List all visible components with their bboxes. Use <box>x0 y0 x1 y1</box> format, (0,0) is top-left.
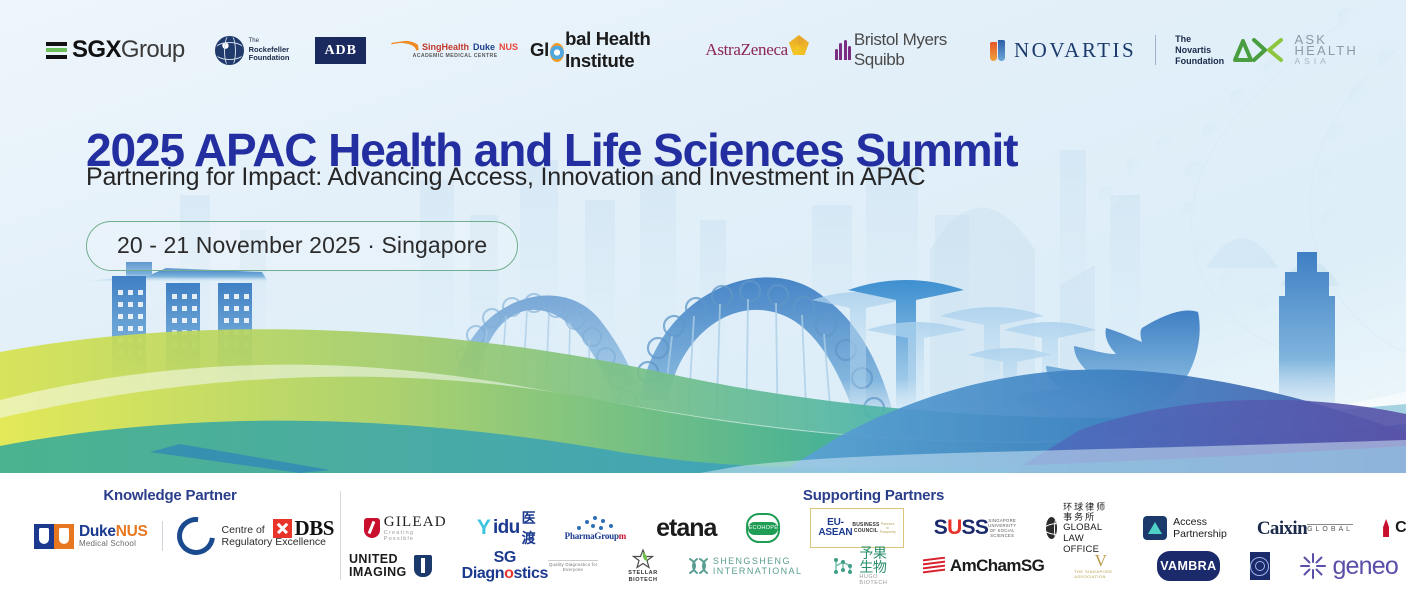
globe-o-icon <box>550 43 564 62</box>
supporting-partners-heading: Supporting Partners <box>341 487 1406 504</box>
geneo-label: geneo <box>1332 552 1398 581</box>
v-crest-sub: THE SINGAPORE ASSOCIATION <box>1074 569 1127 579</box>
supporting-partners-section: Supporting Partners DBS GILEAD Creating … <box>341 473 1406 594</box>
united-line2: IMAGING <box>349 566 407 579</box>
logo-united-imaging: UNITED IMAGING <box>349 550 432 582</box>
sgx-bars-icon <box>46 42 67 59</box>
yidu-y-icon: Y <box>477 518 491 538</box>
duke-label: Duke <box>473 42 495 52</box>
logo-singhealth-dukenus: SingHealth Duke NUS ACADEMIC MEDICAL CEN… <box>392 41 518 59</box>
singhealth-label: SingHealth <box>422 42 469 52</box>
core-arc-icon <box>169 509 222 562</box>
euasean-line2: BUSINESS COUNCIL <box>852 522 879 534</box>
logo-v-crest: V THE SINGAPORE ASSOCIATION <box>1074 550 1127 582</box>
logo-astrazeneca: AstraZeneca <box>705 40 809 60</box>
access-mark-icon <box>1143 516 1167 540</box>
sgd-dot-icon: o <box>504 565 513 582</box>
pharmagroup-dots-icon <box>573 516 617 531</box>
hugo-cn-label: 予果生物 <box>859 546 893 574</box>
logo-geneo: geneo <box>1300 550 1398 582</box>
date-location-badge: 20 - 21 November 2025 · Singapore <box>86 221 518 271</box>
logo-sgx-group: SGXGroup <box>46 36 185 64</box>
shsh-line2: INTERNATIONAL <box>713 566 803 577</box>
logo-caixin-global: Caixin GLOBAL <box>1257 512 1353 544</box>
suss-ss: SS <box>962 516 989 539</box>
logo-gilead: GILEAD Creating Possible <box>364 512 447 544</box>
pharmagroup-mark: m <box>619 531 626 541</box>
logo-hugo-biotech: 予果生物 HUGO BIOTECH <box>832 550 893 582</box>
amcham-label: AmChamSG <box>950 556 1044 576</box>
shsh-line1: SHENGSHENG <box>713 556 803 567</box>
dbs-mark-icon <box>273 519 292 538</box>
logo-shengsheng-international: SHENGSHENG INTERNATIONAL <box>688 550 803 582</box>
sgd-tagline: Quality Diagnostics for Everyone <box>548 560 598 572</box>
event-banner: SGXGroup The Rockefeller Foundation ADB … <box>0 0 1406 594</box>
molecule-icon <box>832 556 854 576</box>
divider <box>1155 35 1156 65</box>
novartis-label: NOVARTIS <box>1014 38 1136 63</box>
gilead-tagline: Creating Possible <box>384 530 447 542</box>
logo-ask-health-asia: ASK HEALTH ASIA <box>1225 34 1358 67</box>
swoosh-icon <box>391 39 418 54</box>
ecohope-label: ECOHOPE <box>748 522 778 535</box>
bms-bars-icon <box>835 40 848 60</box>
gilead-label: GILEAD <box>384 515 447 530</box>
ghi-pre: Gl <box>530 39 549 61</box>
stellar-line1: STELLAR <box>628 570 658 577</box>
logo-stellar-biotech: STELLAR BIOTECH <box>628 550 658 582</box>
star-leaf-icon <box>632 549 654 570</box>
hero-section: SGXGroup The Rockefeller Foundation ADB … <box>0 0 1406 473</box>
access-line2: Partnership <box>1173 528 1227 540</box>
sgd-label2: stics <box>514 565 548 582</box>
pharmagroup-label: PharmaGroup <box>565 531 619 541</box>
shengsheng-mark-icon <box>688 556 708 576</box>
astrazeneca-mark-icon <box>789 35 809 55</box>
amc-label: ACADEMIC MEDICAL CENTRE <box>413 53 498 59</box>
divider <box>162 521 163 551</box>
logo-yidu: Y idu 医渡 <box>477 512 535 544</box>
suss-s1: S <box>934 516 947 539</box>
rockefeller-line3: Foundation <box>249 53 290 62</box>
logo-ceibs: CEIBS 中欧校友 医疗健康产业协会 <box>1383 512 1406 544</box>
logo-amchamsg: AmChamSG <box>923 550 1044 582</box>
logo-adb: ADB <box>315 37 366 64</box>
logo-bristol-myers-squibb: Bristol Myers Squibb <box>835 30 966 70</box>
united-shield-icon <box>414 555 432 577</box>
globe-icon <box>1046 517 1057 539</box>
suss-u: U <box>947 516 961 539</box>
logo-vambra: VAMBRA <box>1157 551 1219 581</box>
burst-icon <box>1300 553 1326 579</box>
novartis-fdn-line1: The Novartis <box>1175 34 1211 55</box>
caixin-sub: GLOBAL <box>1307 524 1353 533</box>
logo-etana: etana <box>656 512 716 544</box>
logo-ecohope: ECOHOPE <box>746 513 780 543</box>
v-crest-label: V <box>1095 553 1107 569</box>
sgx-label-group: Group <box>121 36 185 63</box>
logo-global-law-office: 环球律师事务所 GLOBAL LAW OFFICE <box>1046 512 1113 544</box>
hugo-en-label: HUGO BIOTECH <box>859 574 893 586</box>
logo-pharmagroup: PharmaGroupm <box>565 512 626 544</box>
nus-label: NUS <box>499 42 518 52</box>
logo-square-emblem <box>1250 552 1271 580</box>
suss-sub: SINGAPORE UNIVERSITY OF SOCIAL SCIENCES <box>988 518 1016 538</box>
emblem-icon <box>1250 557 1269 576</box>
access-line1: Access <box>1173 516 1227 528</box>
ceibs-mark-icon <box>1383 519 1389 537</box>
glo-cn: 环球律师事务所 <box>1063 502 1113 522</box>
page-subtitle: Partnering for Impact: Advancing Access,… <box>86 163 925 192</box>
duke-label: Duke <box>79 523 116 540</box>
euasean-line1: EU-ASEAN <box>818 518 852 538</box>
partners-bar: Knowledge Partner DukeNUS Medical School… <box>0 473 1406 594</box>
ceibs-label: CEIBS <box>1395 519 1406 537</box>
logo-sg-diagnostics: SG Diagnostics Quality Diagnostics for E… <box>462 550 599 582</box>
logo-access-partnership: Access Partnership <box>1143 512 1227 544</box>
novartis-fdn-line2: Foundation <box>1175 56 1224 66</box>
logo-duke-nus-medical-school: DukeNUS Medical School <box>34 524 148 549</box>
logo-dbs: DBS <box>273 512 334 544</box>
top-logo-strip: SGXGroup The Rockefeller Foundation ADB … <box>0 26 1406 74</box>
yidu-cn-label: 医渡 <box>522 508 535 548</box>
sgx-label: SGX <box>72 36 121 63</box>
flag-icon <box>923 557 945 576</box>
gilead-shield-icon <box>364 518 380 538</box>
nus-label: NUS <box>116 523 148 540</box>
astrazeneca-label: AstraZeneca <box>705 40 788 60</box>
ghi-post: bal Health Institute <box>565 28 683 72</box>
stellar-line2: BIOTECH <box>628 577 658 584</box>
knowledge-partner-heading: Knowledge Partner <box>0 487 340 504</box>
logo-rockefeller-foundation: The Rockefeller Foundation <box>215 36 290 65</box>
yidu-label: idu <box>493 517 520 539</box>
logo-novartis: NOVARTIS The Novartis Foundation <box>990 34 1225 67</box>
logo-suss: SUSS SINGAPORE UNIVERSITY OF SOCIAL SCIE… <box>934 512 1016 544</box>
duke-shield-icon <box>34 524 74 549</box>
duke-sub: Medical School <box>79 539 148 548</box>
novartis-mark-icon <box>990 40 1006 61</box>
dbs-label: DBS <box>295 516 334 541</box>
bms-label: Bristol Myers Squibb <box>854 30 966 70</box>
euasean-line3: Partners in Prosperity <box>880 522 896 534</box>
ask-mark-icon <box>1225 35 1285 65</box>
logo-eu-asean-business-council: EU-ASEAN BUSINESS COUNCIL Partners in Pr… <box>810 508 903 548</box>
ask-line1: ASK HEALTH <box>1294 34 1358 56</box>
caixin-label: Caixin <box>1257 519 1307 538</box>
logo-global-health-institute: Gl bal Health Institute <box>530 28 683 72</box>
globe-icon <box>215 36 244 65</box>
